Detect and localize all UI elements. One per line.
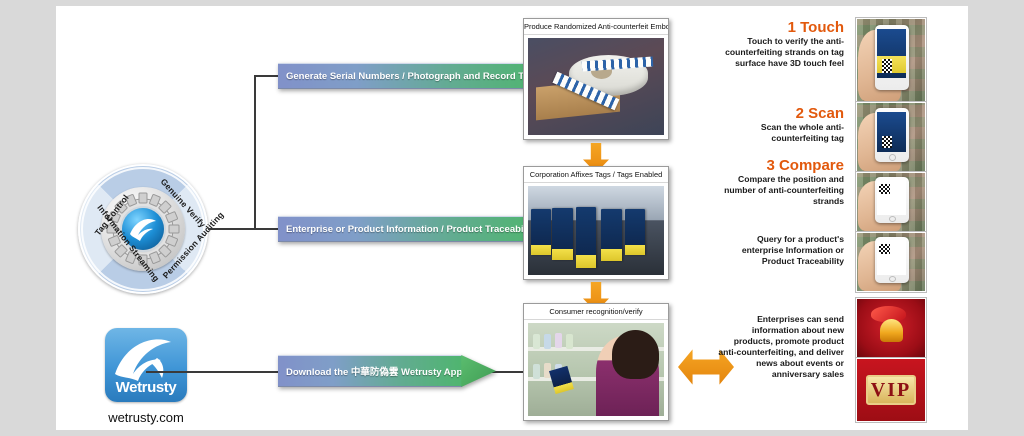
step-2-body: Scan the whole anti-counterfeiting tag [724, 122, 844, 144]
step-4-block: Query for a product's enterprise Informa… [724, 234, 844, 267]
step-5-body: Enterprises can send information about n… [716, 314, 844, 380]
step-1-block: 1 Touch Touch to verify the anti-counter… [724, 20, 844, 69]
flow-arrow-label: Download the 中華防偽雲 Wetrusty App [286, 364, 462, 378]
step-1-heading: 1 Touch [724, 20, 844, 36]
stage-card-photo-label-roll [528, 38, 664, 135]
capability-wheel: Tag Control Genuine Verify Permission Au… [78, 164, 208, 294]
wetrusty-logo-text: Wetrusty [105, 379, 187, 396]
step-3-heading: 3 Compare [724, 158, 844, 174]
step-3-number: 3 [766, 157, 774, 174]
stage-card-affix-tags: Corporation Affixes Tags / Tags Enabled [523, 166, 669, 280]
flow-arrow-head [461, 355, 496, 387]
flow-arrow-body: Download the 中華防偽雲 Wetrusty App [278, 355, 462, 387]
connector-vertical-trunk [254, 76, 256, 230]
flow-arrow-download-app[interactable]: Download the 中華防偽雲 Wetrusty App [278, 355, 496, 387]
step-1-title: Touch [800, 19, 844, 36]
step-2-thumbnail [856, 102, 926, 172]
stage-card-caption: Produce Randomized Anti-counterfeit Embo… [524, 19, 668, 35]
promo-card-vip: VIP [856, 358, 926, 422]
step-5-block: Enterprises can send information about n… [716, 314, 844, 380]
step-1-body: Touch to verify the anti-counterfeiting … [724, 36, 844, 69]
step-3-body: Compare the position and number of anti-… [724, 174, 844, 207]
step-3-block: 3 Compare Compare the position and numbe… [724, 158, 844, 207]
promo-card-bell [856, 298, 926, 358]
connector-wheel-trunk [208, 228, 256, 230]
step-1-number: 1 [788, 19, 796, 36]
step-4-body: Query for a product's enterprise Informa… [724, 234, 844, 267]
flow-arrow-enterprise-product-information[interactable]: Enterprise or Product Information / Prod… [278, 216, 496, 242]
step-1-thumbnail [856, 18, 926, 102]
flow-arrow-label: Enterprise or Product Information / Prod… [286, 224, 537, 235]
step-2-title: Scan [808, 105, 844, 122]
flow-arrow-body: Enterprise or Product Information / Prod… [278, 216, 537, 242]
flow-arrow-body: Generate Serial Numbers / Photograph and… [278, 63, 540, 89]
stage-card-caption: Consumer recognition/verify [524, 304, 668, 320]
step-2-number: 2 [796, 105, 804, 122]
step-3-thumbnail [856, 172, 926, 232]
step-4-thumbnail [856, 232, 926, 292]
wetrusty-logo: Wetrusty [105, 328, 187, 402]
flow-arrow-generate-serial-numbers[interactable]: Generate Serial Numbers / Photograph and… [278, 63, 496, 89]
stage-card-consumer-verify: Consumer recognition/verify [523, 303, 669, 421]
stage-card-produce-tags: Produce Randomized Anti-counterfeit Embo… [523, 18, 669, 140]
brand-block: Wetrusty wetrusty.com [96, 328, 196, 425]
stage-card-photo-consumer [528, 323, 664, 416]
vip-label: VIP [871, 379, 911, 402]
flow-arrow-label: Generate Serial Numbers / Photograph and… [286, 71, 540, 82]
stage-card-caption: Corporation Affixes Tags / Tags Enabled [524, 167, 668, 183]
website-url: wetrusty.com [96, 410, 196, 425]
step-2-heading: 2 Scan [724, 106, 844, 122]
stage-card-photo-product-boxes [528, 186, 664, 275]
step-2-block: 2 Scan Scan the whole anti-counterfeitin… [724, 106, 844, 144]
step-3-title: Compare [779, 157, 844, 174]
diagram-canvas: Tag Control Genuine Verify Permission Au… [56, 6, 968, 430]
connector-to-arrow-3 [146, 371, 284, 373]
